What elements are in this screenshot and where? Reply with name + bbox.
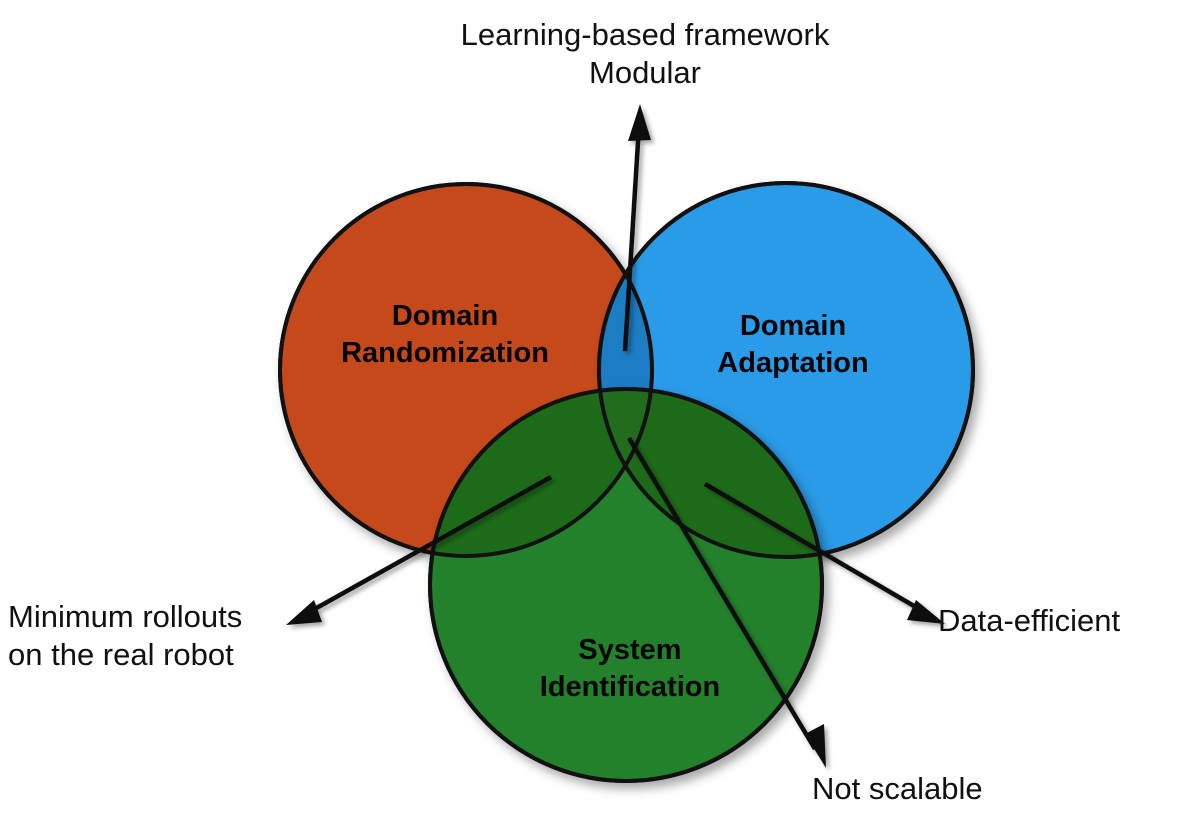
set-label-system-identification: System Identification [490, 632, 770, 706]
venn-diagram-figure: Domain Randomization Domain Adaptation S… [0, 0, 1201, 826]
set-label-domain-randomization: Domain Randomization [300, 298, 590, 372]
callout-label-bottom-right: Not scalable [812, 770, 1062, 808]
set-label-domain-adaptation: Domain Adaptation [648, 308, 938, 382]
callout-label-bottom-left: Minimum rollouts on the real robot [8, 598, 308, 674]
callout-label-right: Data-efficient [938, 602, 1188, 640]
callout-label-top: Learning-based framework Modular [400, 16, 890, 92]
